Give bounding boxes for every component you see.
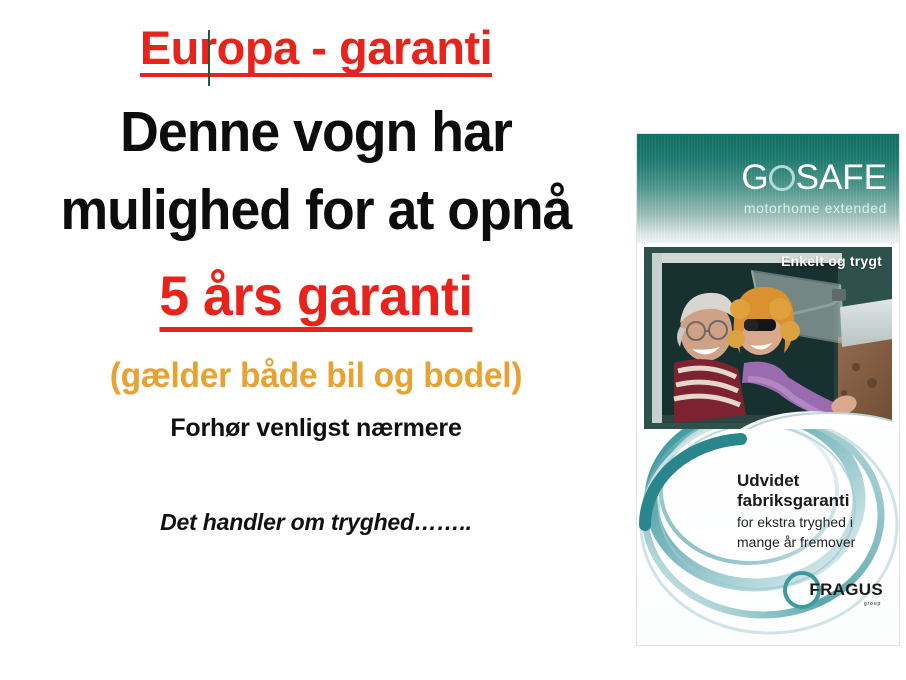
- text-column: Europa - garanti Denne vogn har mulighed…: [0, 0, 632, 680]
- brochure-copy-sub-line1: for ekstra tryghed i: [737, 514, 887, 531]
- gosafe-logo: GSAFE motorhome extended: [741, 160, 887, 216]
- fragus-tagline: group: [864, 601, 881, 607]
- gosafe-logo-subtitle: motorhome extended: [741, 200, 887, 216]
- fragus-logo: FRAGUSgroup: [783, 571, 883, 609]
- gosafe-letter-g: G: [741, 160, 768, 195]
- tagline-text: Det handler om tryghed……..: [0, 511, 632, 534]
- brochure-photo-couple-in-motorhome: Enkelt og trygt: [644, 247, 892, 429]
- warranty-highlight-text: 5 års garanti: [159, 268, 472, 332]
- gosafe-brochure-image: GSAFE motorhome extended: [637, 134, 899, 645]
- page-title-text: Europa - garanti: [140, 24, 492, 77]
- brochure-copy-sub-line2: mange år fremover: [737, 534, 887, 551]
- body-line-1: Denne vogn har: [19, 104, 613, 161]
- photo-illustration: [644, 247, 892, 429]
- body-line-2: mulighed for at opnå: [19, 182, 613, 239]
- gosafe-o-ring-icon: [769, 165, 795, 191]
- brochure-copy-heading-line2: fabriksgaranti: [737, 491, 887, 511]
- slide-canvas: Europa - garanti Denne vogn har mulighed…: [0, 0, 906, 680]
- brochure-copy-block: Udvidet fabriksgaranti for ekstra tryghe…: [737, 471, 887, 551]
- fragus-wordmark: FRAGUSgroup: [809, 580, 883, 600]
- page-title: Europa - garanti: [0, 24, 632, 77]
- brochure-copy-heading-line1: Udvidet: [737, 471, 887, 491]
- gosafe-word-safe: SAFE: [796, 160, 887, 195]
- warranty-highlight: 5 års garanti: [13, 268, 620, 332]
- call-to-action-text: Forhør venligst nærmere: [0, 416, 632, 441]
- gosafe-logo-wordmark: GSAFE: [741, 160, 887, 195]
- text-caret-artifact: [208, 30, 210, 86]
- warranty-scope-note: (gælder både bil og bodel): [13, 358, 620, 393]
- photo-caption: Enkelt og trygt: [781, 253, 882, 269]
- brochure-lower-panel: Udvidet fabriksgaranti for ekstra tryghe…: [637, 429, 899, 645]
